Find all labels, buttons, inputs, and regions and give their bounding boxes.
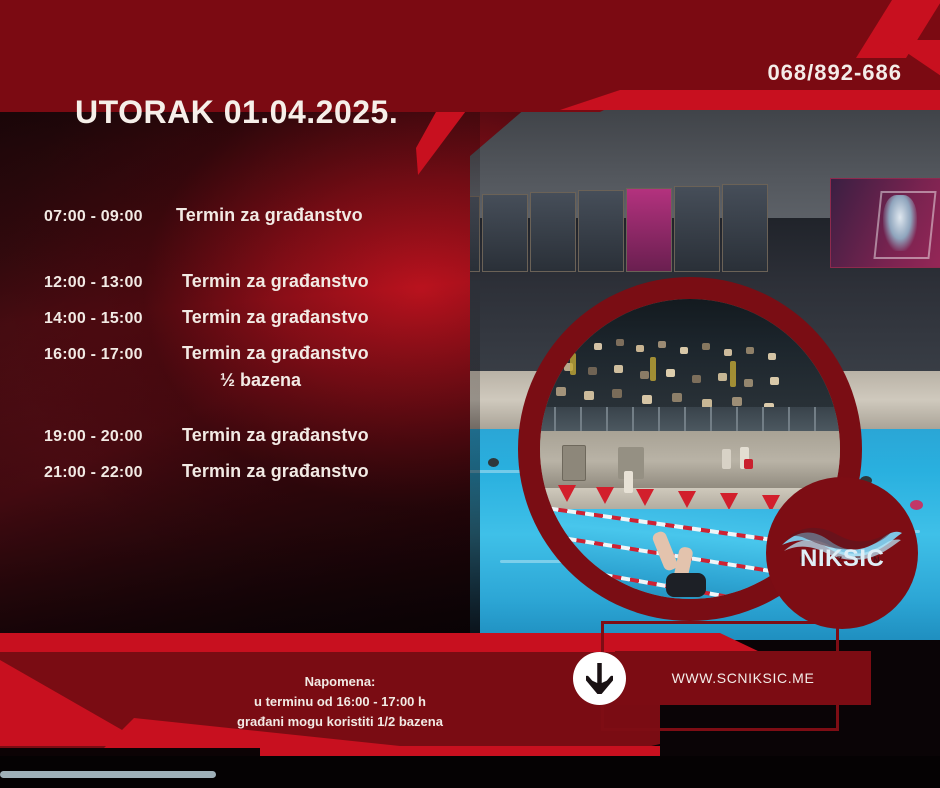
spectator <box>692 375 701 383</box>
window-pane <box>674 186 720 272</box>
window-pane <box>530 192 576 272</box>
railing-bar <box>580 407 582 431</box>
railing-bar <box>762 407 764 431</box>
schedule-desc: Termin za građanstvo <box>182 307 369 328</box>
railing-bar <box>554 407 556 431</box>
spectator <box>574 337 582 344</box>
row-spacer <box>44 329 464 343</box>
spectator <box>746 347 754 354</box>
spectator <box>732 397 742 406</box>
pool-flag <box>720 493 738 510</box>
railing-bar <box>736 407 738 431</box>
railing-bar <box>684 407 686 431</box>
spectator <box>702 343 710 350</box>
row-spacer <box>44 447 464 461</box>
staff-shorts <box>744 459 753 469</box>
swim-cap <box>910 500 923 510</box>
note-block: Napomena: u terminu od 16:00 - 17:00 h g… <box>170 672 510 732</box>
spectator <box>718 373 727 381</box>
progress-bar[interactable] <box>0 771 216 778</box>
note-line-2: u terminu od 16:00 - 17:00 h <box>170 692 510 712</box>
spectator <box>636 345 644 352</box>
schedule-continuation: ½ bazena <box>220 370 464 391</box>
rail-post <box>650 357 656 381</box>
schedule-row: 21:00 - 22:00 Termin za građanstvo <box>44 461 464 482</box>
spectator <box>770 377 779 385</box>
note-line-3: građani mogu koristiti 1/2 bazena <box>170 712 510 732</box>
railing-bar <box>658 407 660 431</box>
spectator <box>616 339 624 346</box>
schedule-time: 07:00 - 09:00 <box>44 208 176 226</box>
schedule-desc: Termin za građanstvo <box>182 425 369 446</box>
schedule-row: 14:00 - 15:00 Termin za građanstvo <box>44 307 464 328</box>
staff-person <box>722 449 731 469</box>
window-pane-lit <box>626 188 672 272</box>
phone-number[interactable]: 068/892-686 <box>767 60 902 86</box>
spectator <box>556 387 566 396</box>
schedule-time: 14:00 - 15:00 <box>44 310 176 328</box>
schedule-list: 07:00 - 09:00 Termin za građanstvo 12:00… <box>44 205 464 483</box>
schedule-desc: Termin za građanstvo <box>182 343 369 364</box>
spectator <box>612 389 622 398</box>
rail-post <box>730 361 736 387</box>
schedule-desc: Termin za građanstvo <box>182 461 369 482</box>
schedule-time: 21:00 - 22:00 <box>44 464 176 482</box>
schedule-time: 16:00 - 17:00 <box>44 346 176 364</box>
spectator <box>666 369 675 377</box>
schedule-time: 12:00 - 13:00 <box>44 274 176 292</box>
spectator <box>584 391 594 400</box>
swimmer <box>488 458 499 467</box>
spectator <box>724 349 732 356</box>
spectator <box>588 367 597 375</box>
window-pane <box>722 184 768 272</box>
row-spacer <box>44 293 464 307</box>
spectator <box>640 371 649 379</box>
spectator <box>594 343 602 350</box>
railing-bar <box>606 407 608 431</box>
pool-flag <box>678 491 696 508</box>
railing-bar <box>710 407 712 431</box>
poster-canvas: 068/892-686 UTORAK 01.04.2025. 07:00 - 0… <box>0 0 940 788</box>
window-pane <box>482 194 528 272</box>
spectator <box>554 341 562 348</box>
railing-bar <box>788 407 790 431</box>
arrow-down-icon <box>586 663 613 694</box>
schedule-desc: Termin za građanstvo <box>176 205 363 226</box>
schedule-gap <box>44 227 464 271</box>
advert-frame <box>873 191 936 259</box>
schedule-time: 19:00 - 20:00 <box>44 428 176 446</box>
schedule-row: 12:00 - 13:00 Termin za građanstvo <box>44 271 464 292</box>
doorway <box>562 445 586 481</box>
railing-bar <box>814 407 816 431</box>
logo-badge[interactable]: B A Z E N NIKSIC <box>766 477 918 629</box>
spectator <box>680 347 688 354</box>
page-title: UTORAK 01.04.2025. <box>75 94 398 131</box>
schedule-desc: Termin za građanstvo <box>182 271 369 292</box>
diver-torso <box>666 573 706 597</box>
pool-flag <box>636 489 654 506</box>
rail-post <box>570 353 576 375</box>
schedule-gap <box>44 391 464 425</box>
railing-bar <box>632 407 634 431</box>
website-url[interactable]: WWW.SCNIKSIC.ME <box>615 651 871 705</box>
spectator <box>672 393 682 402</box>
balcony-railing <box>540 407 840 431</box>
window-pane <box>578 190 624 272</box>
schedule-row: 16:00 - 17:00 Termin za građanstvo <box>44 343 464 364</box>
spectator <box>768 353 776 360</box>
note-line-1: Napomena: <box>170 672 510 692</box>
spectator <box>658 341 666 348</box>
pool-flag <box>596 487 614 504</box>
spectator <box>642 395 652 404</box>
header-band-bright <box>560 90 940 110</box>
spectator <box>614 365 623 373</box>
pool-flag <box>558 485 576 502</box>
spectator <box>744 379 753 387</box>
logo-maintext: NIKSIC <box>800 545 910 573</box>
arrow-down-button[interactable] <box>573 652 626 705</box>
coach-person <box>624 471 633 493</box>
schedule-row: 07:00 - 09:00 Termin za građanstvo <box>44 205 464 226</box>
advert-banner <box>830 178 940 268</box>
schedule-row: 19:00 - 20:00 Termin za građanstvo <box>44 425 464 446</box>
footer-dark-strip <box>0 748 260 756</box>
